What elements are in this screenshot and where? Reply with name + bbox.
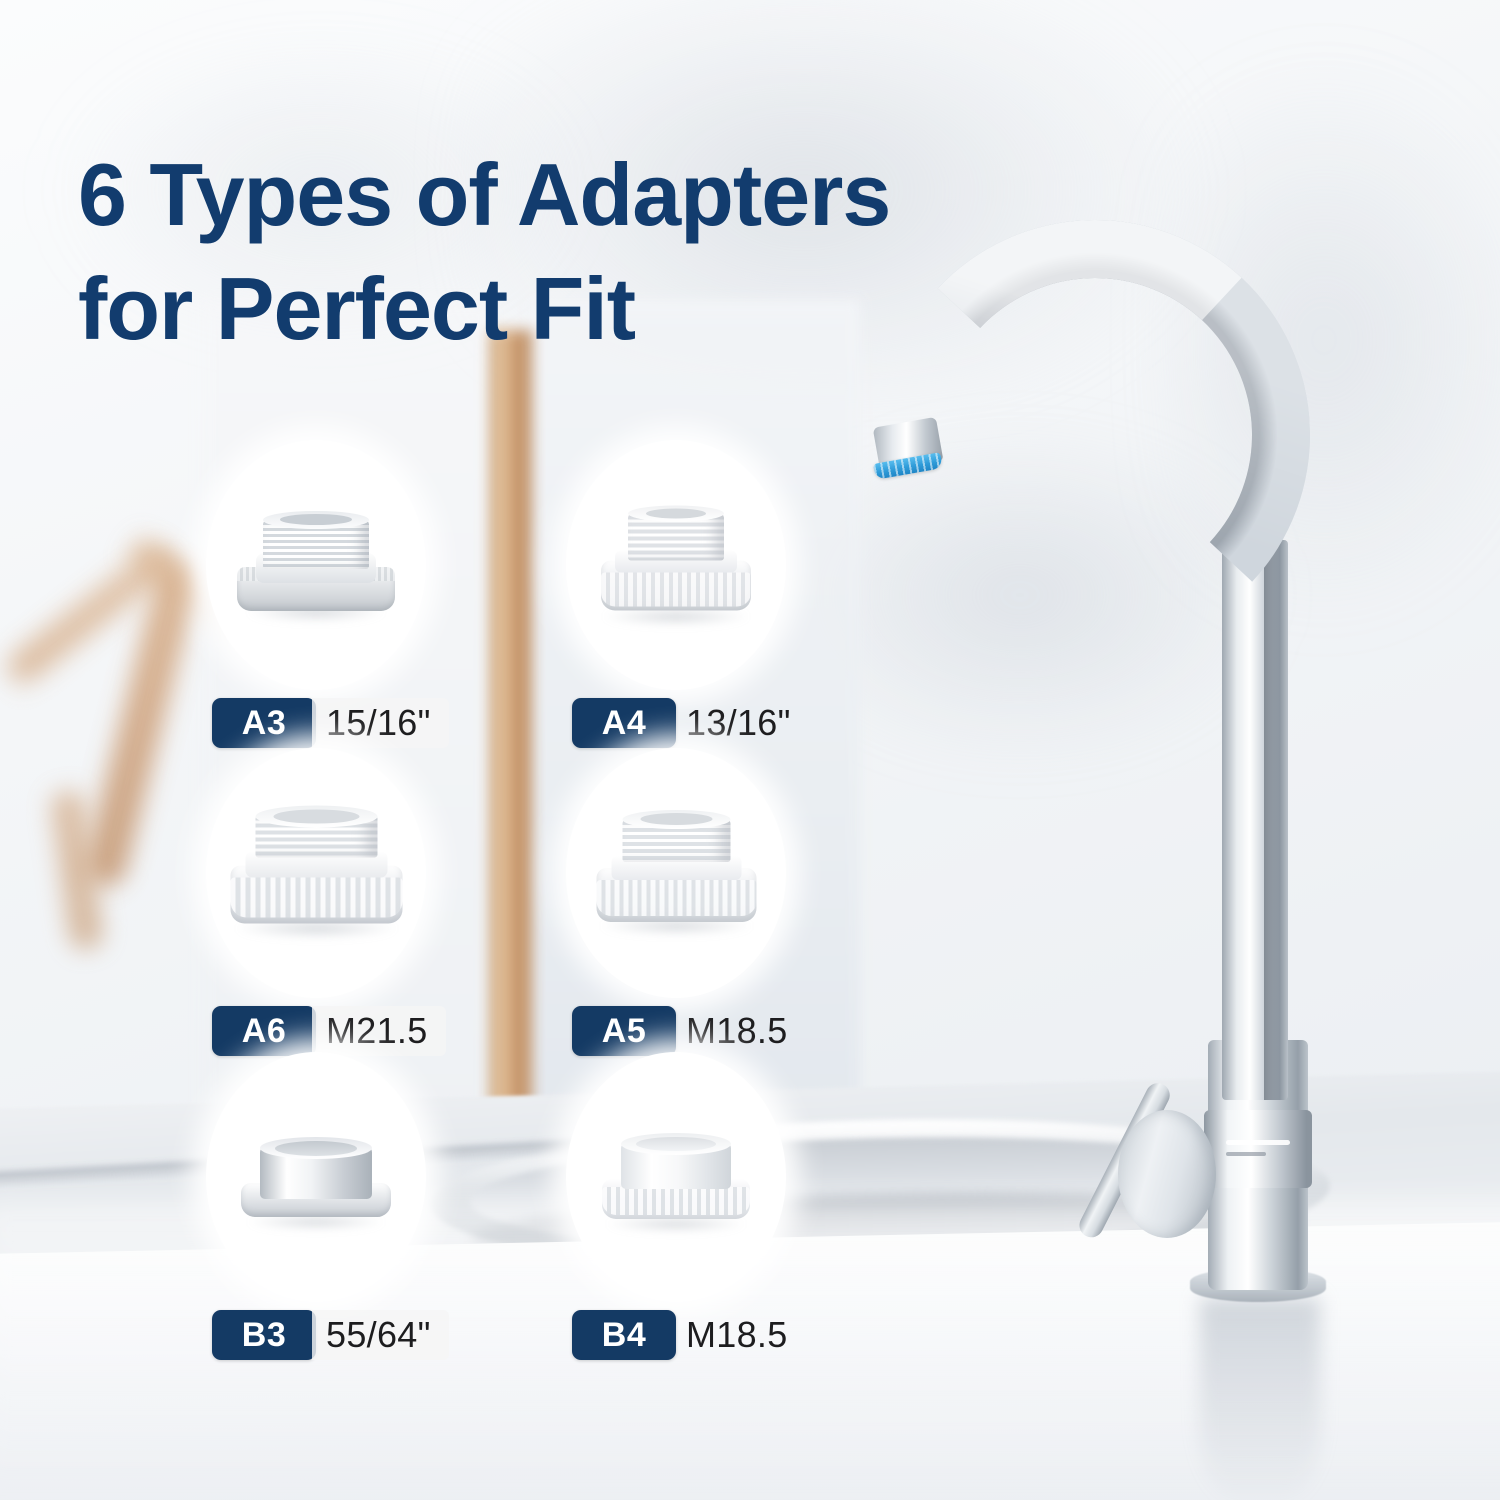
adapter-code-badge: B4 [572,1310,676,1360]
adapter-label-a3: A3 15/16" [212,698,449,748]
adapter-size-label: M18.5 [672,1310,806,1360]
adapter-card-a6[interactable]: A6 M21.5 [200,748,560,998]
adapter-label-a4: A4 13/16" [572,698,809,748]
adapter-image-a6 [206,748,426,998]
adapter-label-b4: B4 M18.5 [572,1310,806,1360]
adapter-code-badge: A6 [212,1006,316,1056]
adapter-card-a4[interactable]: A4 13/16" [560,440,920,690]
adapter-code-badge: A5 [572,1006,676,1056]
adapter-threaded-large-plastic-icon [224,806,409,941]
adapter-label-b3: B3 55/64" [212,1310,449,1360]
adapter-label-a5: A5 M18.5 [572,1006,806,1056]
adapter-card-a3[interactable]: A3 15/16" [200,440,560,690]
adapter-code-badge: B3 [212,1310,316,1360]
adapter-card-b3[interactable]: B3 55/64" [200,1052,560,1302]
adapter-size-label: 15/16" [312,698,449,748]
adapter-size-label: M21.5 [312,1006,446,1056]
adapter-size-label: 13/16" [672,698,809,748]
adapter-threaded-male-metal-icon [231,505,401,625]
adapter-image-b4 [566,1052,786,1302]
adapter-card-a5[interactable]: A5 M18.5 [560,748,920,998]
adapter-threaded-male-plastic-icon [591,503,761,628]
adapter-code-badge: A4 [572,698,676,748]
adapter-image-a4 [566,440,786,690]
adapter-female-ring-plastic-icon [596,1123,756,1231]
adapter-label-a6: A6 M21.5 [212,1006,446,1056]
adapter-image-b3 [206,1052,426,1302]
adapter-image-a3 [206,440,426,690]
adapter-grid: A3 15/16" A4 13/16" [0,0,1500,1500]
adapter-female-ring-metal-icon [236,1125,396,1229]
adapter-size-label: 55/64" [312,1310,449,1360]
adapter-threaded-mid-plastic-icon [589,808,764,938]
adapter-card-b4[interactable]: B4 M18.5 [560,1052,920,1302]
adapter-image-a5 [566,748,786,998]
infographic-canvas: 6 Types of Adapters for Perfect Fit A3 1… [0,0,1500,1500]
adapter-code-badge: A3 [212,698,316,748]
adapter-size-label: M18.5 [672,1006,806,1056]
